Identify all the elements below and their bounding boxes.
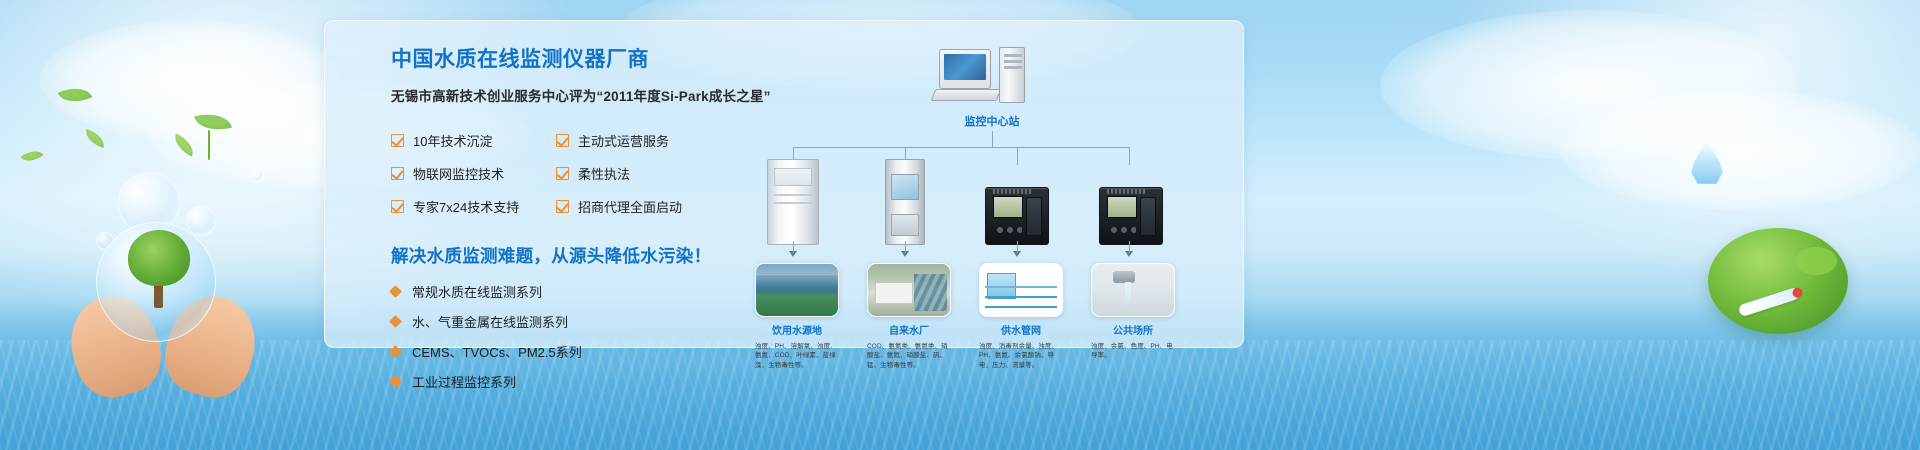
diamond-bullet-icon bbox=[389, 345, 402, 358]
page-title: 中国水质在线监测仪器厂商 bbox=[391, 43, 751, 73]
scene-card-description: 浊度、余氯、色度、PH、电导率。 bbox=[1091, 342, 1175, 361]
secondary-headline: 解决水质监测难题，从源头降低水污染！ bbox=[391, 243, 751, 268]
list-item: CEMS、TVOCs、PM2.5系列 bbox=[391, 342, 751, 361]
checklist-item-label: 主动式运营服务 bbox=[578, 131, 669, 150]
list-item-label: 工业过程监控系列 bbox=[412, 372, 516, 391]
device-keypad bbox=[1108, 223, 1136, 237]
checkbox-checked-icon bbox=[556, 200, 569, 213]
cloud-decoration bbox=[1560, 90, 1920, 210]
list-item-label: 水、气重金属在线监测系列 bbox=[412, 312, 568, 331]
device-brand-strip bbox=[1107, 189, 1147, 194]
checklist-item: 专家7x24技术支持 bbox=[391, 197, 556, 216]
scene-card: 供水管网 浊度、消毒剂余量、浊度、PH、氨氮、余氯酸钠、导电、压力、流量等。 bbox=[979, 263, 1063, 370]
checklist-item: 柔性执法 bbox=[556, 164, 721, 183]
monitoring-center-computer bbox=[933, 45, 1053, 107]
left-text-column: 中国水质在线监测仪器厂商 无锡市高新技术创业服务中心评为“2011年度Si-Pa… bbox=[391, 43, 751, 402]
system-diagram: 监控中心站 bbox=[755, 35, 1225, 345]
scene-card-description: COD、氨氮类、氨氮类、硝酸盐、氨氮、硝酸盐、矾、锰、生物毒性等。 bbox=[867, 342, 951, 370]
cabinet-window bbox=[891, 174, 919, 200]
connector-line bbox=[905, 241, 906, 253]
checklist-item: 10年技术沉淀 bbox=[391, 131, 556, 150]
checkbox-checked-icon bbox=[391, 134, 404, 147]
water-shimmer bbox=[0, 340, 1920, 450]
scene-card: 自来水厂 COD、氨氮类、氨氮类、硝酸盐、氨氮、硝酸盐、矾、锰、生物毒性等。 bbox=[867, 263, 951, 370]
device-brand-strip bbox=[993, 189, 1033, 194]
connector-line bbox=[793, 147, 1129, 148]
scene-photo-waterworks bbox=[867, 263, 951, 317]
checklist-item-label: 柔性执法 bbox=[578, 164, 630, 183]
list-item: 水、气重金属在线监测系列 bbox=[391, 312, 751, 331]
earth-globe-decoration bbox=[1708, 228, 1848, 334]
pc-tower-icon bbox=[999, 47, 1025, 103]
connector-line bbox=[992, 131, 993, 147]
page-subtitle: 无锡市高新技术创业服务中心评为“2011年度Si-Park成长之星” bbox=[391, 85, 751, 105]
device-controller-a bbox=[985, 187, 1049, 245]
bubble-decoration bbox=[186, 206, 216, 236]
checklist-item: 物联网监控技术 bbox=[391, 164, 556, 183]
diamond-bullet-icon bbox=[389, 375, 402, 388]
diagram-center-label: 监控中心站 bbox=[907, 113, 1077, 129]
checkbox-checked-icon bbox=[391, 200, 404, 213]
monitor-screen bbox=[944, 54, 986, 80]
device-keypad bbox=[994, 223, 1022, 237]
leaf-stem bbox=[208, 130, 210, 160]
list-item-label: 常规水质在线监测系列 bbox=[412, 282, 542, 301]
bubble-decoration bbox=[250, 168, 264, 182]
device-water-cabinet bbox=[767, 159, 819, 245]
content-panel: 中国水质在线监测仪器厂商 无锡市高新技术创业服务中心评为“2011年度Si-Pa… bbox=[324, 20, 1244, 348]
checklist-item: 主动式运营服务 bbox=[556, 131, 721, 150]
scene-card-row: 饮用水源地 浊度、PH、溶解氧、浊度、氨氮、COD、叶绿素、蓝绿藻、生物毒性等。… bbox=[755, 263, 1225, 349]
connector-line bbox=[1017, 241, 1018, 253]
checkbox-checked-icon bbox=[556, 167, 569, 180]
scene-photo-supply-network bbox=[979, 263, 1063, 317]
feature-checklist: 10年技术沉淀 主动式运营服务 物联网监控技术 柔性执法 专家7x24技术支持 bbox=[391, 131, 751, 216]
device-side-panel bbox=[1140, 197, 1156, 236]
checkbox-checked-icon bbox=[391, 167, 404, 180]
scene-card-description: 浊度、消毒剂余量、浊度、PH、氨氮、余氯酸钠、导电、压力、流量等。 bbox=[979, 342, 1063, 370]
checkbox-checked-icon bbox=[556, 134, 569, 147]
checklist-item-label: 专家7x24技术支持 bbox=[413, 197, 519, 216]
connector-line bbox=[1129, 241, 1130, 253]
device-lcd-screen bbox=[1107, 196, 1137, 218]
device-lcd-screen bbox=[993, 196, 1023, 218]
scene-card-title: 饮用水源地 bbox=[755, 322, 839, 337]
checklist-item: 招商代理全面启动 bbox=[556, 197, 721, 216]
keyboard-icon bbox=[931, 89, 1002, 101]
device-row bbox=[755, 153, 1225, 245]
scene-card: 公共场所 浊度、余氯、色度、PH、电导率。 bbox=[1091, 263, 1175, 361]
device-side-panel bbox=[1026, 197, 1042, 236]
connector-line bbox=[793, 241, 794, 253]
diamond-bullet-icon bbox=[389, 315, 402, 328]
tree-canopy-decoration bbox=[128, 230, 190, 286]
checklist-item-label: 10年技术沉淀 bbox=[413, 131, 492, 150]
checklist-item-label: 招商代理全面启动 bbox=[578, 197, 682, 216]
device-analyzer-cabinet bbox=[885, 159, 925, 245]
monitor-icon bbox=[939, 49, 991, 89]
scene-card: 饮用水源地 浊度、PH、溶解氧、浊度、氨氮、COD、叶绿素、蓝绿藻、生物毒性等。 bbox=[755, 263, 839, 370]
product-series-list: 常规水质在线监测系列 水、气重金属在线监测系列 CEMS、TVOCs、PM2.5… bbox=[391, 282, 751, 391]
scene-card-description: 浊度、PH、溶解氧、浊度、氨氮、COD、叶绿素、蓝绿藻、生物毒性等。 bbox=[755, 342, 839, 370]
device-controller-b bbox=[1099, 187, 1163, 245]
banner-root: 中国水质在线监测仪器厂商 无锡市高新技术创业服务中心评为“2011年度Si-Pa… bbox=[0, 0, 1920, 450]
cabinet-panel bbox=[891, 214, 919, 236]
scene-card-title: 公共场所 bbox=[1091, 322, 1175, 337]
checklist-item-label: 物联网监控技术 bbox=[413, 164, 504, 183]
scene-card-title: 供水管网 bbox=[979, 322, 1063, 337]
list-item: 工业过程监控系列 bbox=[391, 372, 751, 391]
scene-photo-drinking-source bbox=[755, 263, 839, 317]
diamond-bullet-icon bbox=[389, 285, 402, 298]
scene-card-title: 自来水厂 bbox=[867, 322, 951, 337]
scene-photo-public-place bbox=[1091, 263, 1175, 317]
list-item-label: CEMS、TVOCs、PM2.5系列 bbox=[412, 342, 582, 361]
list-item: 常规水质在线监测系列 bbox=[391, 282, 751, 301]
